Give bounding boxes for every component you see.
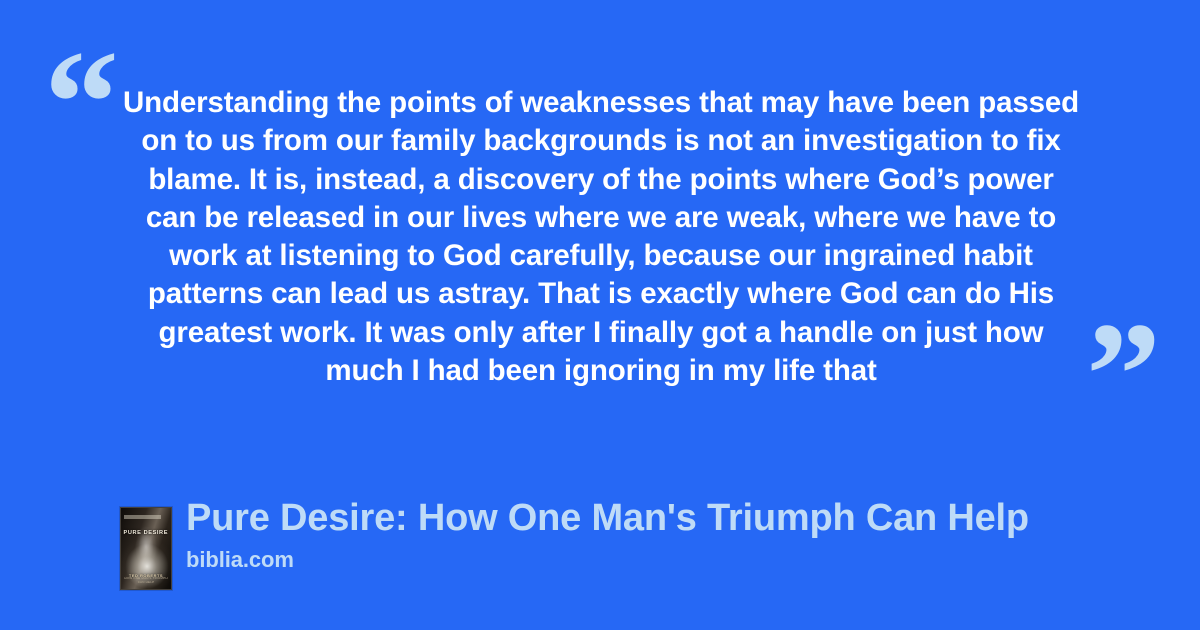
quote-line: on to us from our family backgrounds is … (118, 122, 1084, 160)
quote-line: Understanding the points of weaknesses t… (118, 84, 1084, 122)
source-site: biblia.com (186, 546, 1029, 574)
quote-line: can be released in our lives where we ar… (118, 199, 1084, 237)
quote-line: work at listening to God carefully, beca… (118, 237, 1084, 275)
book-title: Pure Desire: How One Man's Triumph Can H… (186, 495, 1029, 541)
quote-line: patterns can lead us astray. That is exa… (118, 275, 1084, 313)
quote-card: “ Understanding the points of weaknesses… (0, 0, 1200, 470)
open-quote-icon: “ (44, 28, 119, 178)
book-cover-title: PURE DESIRE (124, 530, 170, 536)
quote-text: Understanding the points of weaknesses t… (118, 84, 1084, 390)
book-cover-thumbnail: PURE DESIRE TED ROBERTS HOW ONE MAN'S TR… (120, 507, 172, 590)
close-quote-icon: ” (1086, 300, 1161, 450)
book-cover-band (124, 515, 161, 519)
quote-line: greatest work. It was only after I final… (118, 314, 1084, 352)
quote-line: blame. It is, instead, a discovery of th… (118, 161, 1084, 199)
book-cover-subtitle: HOW ONE MAN'S TRIUMPH CAN HELP (121, 576, 171, 584)
footer-text-group: Pure Desire: How One Man's Triumph Can H… (186, 495, 1029, 574)
quote-line: much I had been ignoring in my life that (118, 352, 1084, 390)
footer-attribution: PURE DESIRE TED ROBERTS HOW ONE MAN'S TR… (0, 495, 1200, 605)
